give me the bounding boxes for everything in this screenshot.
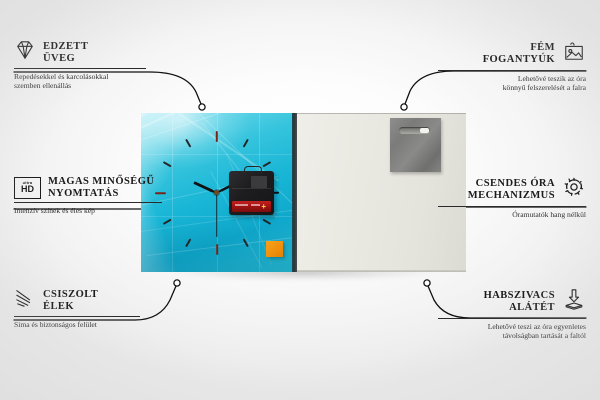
divider	[14, 68, 146, 69]
feature-desc: Lehetővé teszi az óra egyenletes távolsá…	[438, 322, 586, 341]
polished-edges-icon	[14, 288, 36, 313]
wire-endpoint	[401, 104, 407, 110]
divider	[14, 202, 162, 203]
feature-foam-spacer: HABSZIVACS ALÁTÉT Lehetővé teszi az óra …	[438, 288, 586, 341]
divider	[438, 318, 586, 319]
hand-cap	[214, 190, 219, 195]
wire-endpoint	[199, 104, 205, 110]
orange-foam-pad	[266, 241, 283, 257]
hanging-frame-icon	[562, 40, 586, 67]
feature-title: HABSZIVACS ALÁTÉT	[484, 290, 555, 313]
battery-label: +	[232, 201, 271, 212]
feature-title: CSENDES ÓRA MECHANIZMUS	[468, 178, 555, 201]
feature-desc: Repedésekkel és karcolásokkal szemben el…	[14, 72, 146, 91]
gear-icon	[562, 176, 586, 203]
feature-tempered-glass: EDZETT ÜVEG Repedésekkel és karcolásokka…	[14, 40, 146, 91]
feature-title: FÉM FOGANTYÚK	[483, 42, 555, 65]
press-pad-icon	[562, 288, 586, 315]
divider	[438, 206, 586, 207]
diamond-icon	[14, 40, 36, 65]
feature-title: EDZETT ÜVEG	[43, 41, 88, 64]
metal-hanger-plate	[390, 118, 441, 172]
ultra-hd-big-label: HD	[21, 185, 34, 195]
feature-silent-clock-mechanism: CSENDES ÓRA MECHANIZMUS Óramutatók hang …	[438, 176, 586, 219]
divider	[14, 316, 140, 317]
product-image: +	[141, 113, 466, 272]
feature-high-quality-print: ultra HD MAGAS MINŐSÉGŰ NYOMTATÁS Intenz…	[14, 176, 162, 216]
divider	[438, 70, 586, 71]
ultra-hd-icon: ultra HD	[14, 177, 41, 199]
feature-desc: Lehetővé teszik az óra könnyű felszerelé…	[438, 74, 586, 93]
feature-polished-edges: CSISZOLT ÉLEK Sima és biztonságos felüle…	[14, 288, 140, 329]
feature-desc: Intenzív színek és éles kép	[14, 206, 162, 215]
feature-title: MAGAS MINŐSÉGŰ NYOMTATÁS	[48, 176, 154, 199]
feature-title: CSISZOLT ÉLEK	[43, 289, 98, 312]
clock-mechanism-box: +	[229, 171, 274, 215]
infographic-canvas: + EDZETT ÜVEG Repedésekkel és karcolások…	[0, 0, 600, 400]
feature-metal-handles: FÉM FOGANTYÚK Lehetővé teszik az óra kön…	[438, 40, 586, 93]
second-hand	[216, 193, 217, 237]
feature-desc: Sima és biztonságos felület	[14, 320, 140, 329]
feature-desc: Óramutatók hang nélkül	[438, 210, 586, 219]
